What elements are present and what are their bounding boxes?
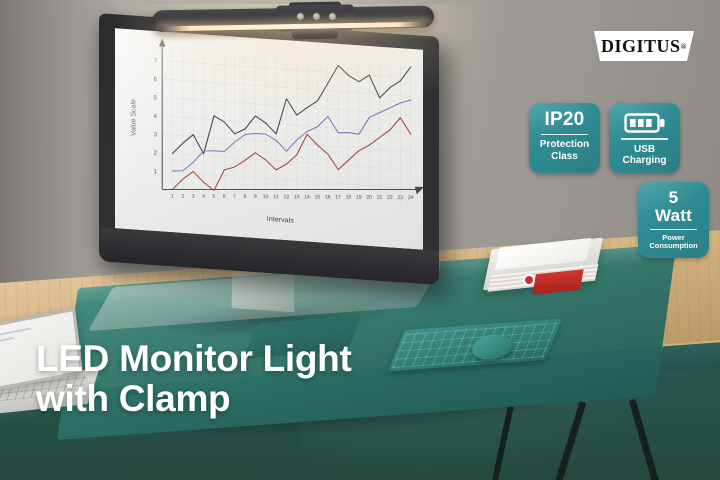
svg-text:2: 2	[181, 194, 184, 200]
feature-badges-row-1: IP20 Protection Class USB Charging	[529, 103, 709, 173]
brand-logo: DIGITUS®	[594, 31, 694, 61]
svg-text:8: 8	[243, 194, 246, 200]
badge-power-unit: Watt	[642, 207, 705, 225]
badge-power-value: 5	[642, 189, 705, 207]
svg-text:7: 7	[154, 58, 158, 65]
badge-ip20-subtitle-line2: Class	[533, 151, 596, 162]
svg-text:6: 6	[223, 194, 226, 200]
svg-text:Intervals: Intervals	[267, 215, 295, 225]
svg-text:7: 7	[233, 194, 236, 200]
svg-text:21: 21	[376, 195, 382, 201]
svg-text:18: 18	[345, 195, 351, 201]
battery-icon	[624, 112, 666, 134]
svg-text:22: 22	[387, 195, 393, 201]
feature-badges-row-2: 5 Watt Power Consumption	[529, 182, 709, 258]
svg-text:24: 24	[408, 195, 414, 201]
svg-text:1: 1	[171, 194, 174, 200]
svg-text:4: 4	[154, 113, 158, 120]
product-hero-image: 1234567123456789101112131415161718192021…	[0, 0, 720, 480]
logo-text: DIGITUS	[601, 36, 681, 57]
monitor: 1234567123456789101112131415161718192021…	[99, 13, 439, 285]
svg-text:1: 1	[154, 168, 158, 175]
svg-text:13: 13	[294, 194, 300, 200]
feature-badges: IP20 Protection Class USB Charging	[529, 103, 709, 258]
svg-text:5: 5	[212, 194, 215, 200]
svg-text:12: 12	[283, 194, 289, 200]
led-brightness-button[interactable]	[313, 13, 320, 20]
svg-text:Value Scale: Value Scale	[129, 99, 137, 136]
svg-text:5: 5	[154, 94, 158, 101]
svg-text:3: 3	[192, 194, 195, 200]
badge-usb-subtitle-line1: USB	[613, 144, 676, 155]
badge-divider	[650, 229, 697, 231]
badge-power-consumption: 5 Watt Power Consumption	[638, 182, 709, 258]
headline-line-1: LED Monitor Light	[36, 339, 352, 379]
badge-divider	[541, 134, 588, 136]
svg-text:20: 20	[366, 195, 372, 201]
svg-text:6: 6	[154, 76, 158, 83]
badge-ip20-title: IP20	[533, 110, 596, 130]
svg-text:19: 19	[356, 195, 362, 201]
monitor-screen: 1234567123456789101112131415161718192021…	[115, 28, 423, 250]
badge-ip20: IP20 Protection Class	[529, 103, 600, 173]
svg-text:4: 4	[202, 194, 205, 200]
line-chart: 1234567123456789101112131415161718192021…	[115, 28, 423, 250]
svg-text:9: 9	[254, 194, 257, 200]
svg-text:3: 3	[154, 131, 158, 138]
page-title: LED Monitor Light with Clamp	[36, 339, 352, 420]
badge-usb-charging: USB Charging	[609, 103, 680, 173]
chart-svg: 1234567123456789101112131415161718192021…	[115, 28, 423, 250]
badge-divider	[621, 138, 668, 140]
svg-text:11: 11	[273, 194, 279, 200]
svg-text:17: 17	[335, 195, 341, 201]
svg-text:10: 10	[263, 194, 269, 200]
svg-text:14: 14	[304, 194, 310, 200]
led-power-button[interactable]	[297, 13, 304, 20]
svg-text:15: 15	[314, 194, 320, 200]
badge-power-subtitle-line2: Consumption	[642, 242, 705, 250]
svg-text:2: 2	[154, 150, 158, 157]
headline-line-2: with Clamp	[36, 379, 352, 419]
logo-text-wrap: DIGITUS®	[594, 31, 694, 61]
logo-trademark-icon: ®	[681, 42, 687, 51]
led-color-temp-button[interactable]	[329, 13, 336, 20]
svg-text:23: 23	[397, 195, 403, 201]
svg-text:16: 16	[325, 194, 331, 200]
badge-ip20-subtitle-line1: Protection	[533, 139, 596, 150]
badge-usb-subtitle-line2: Charging	[613, 155, 676, 166]
